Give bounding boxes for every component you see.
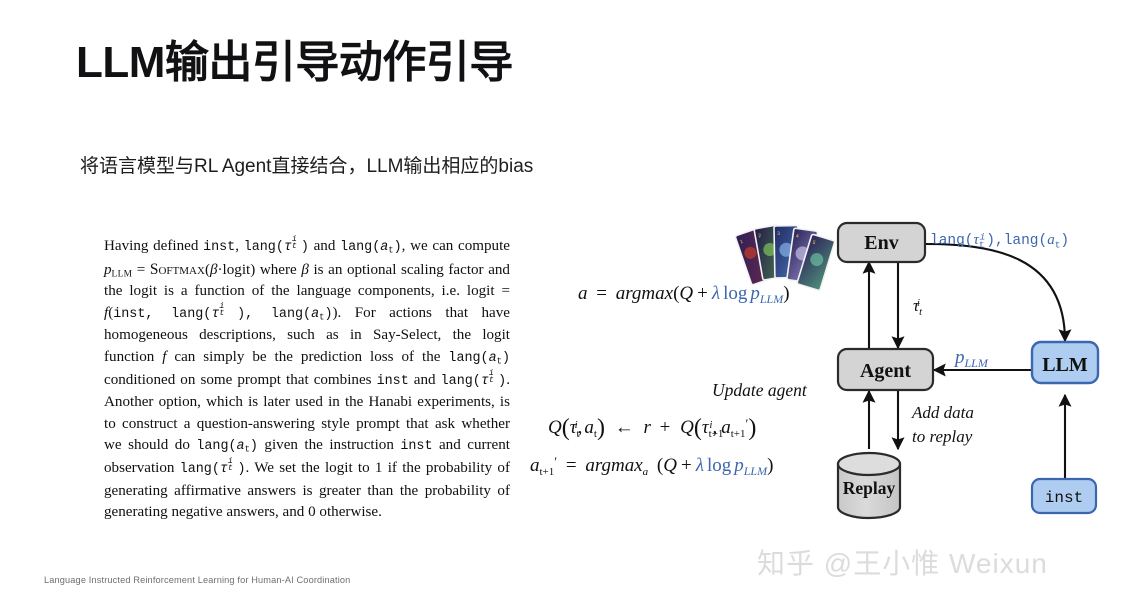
edge-label-replay-to-agent: Update agent <box>712 380 808 400</box>
svg-text:to replay: to replay <box>912 427 973 446</box>
equation-next-action: at+1′ = argmaxa (Q+λlogpLLM) <box>530 450 773 480</box>
equation-action-selection: a = argmax(Q+λlogpLLM) <box>578 283 790 306</box>
svg-text:lang(τti),lang(at): lang(τti),lang(at) <box>930 232 1069 251</box>
hanabi-cards-icon: 1 2 3 4 <box>735 225 835 291</box>
svg-text:LLM: LLM <box>1042 354 1088 376</box>
node-env: Env <box>838 223 925 262</box>
svg-text:inst: inst <box>1045 489 1083 507</box>
node-inst: inst <box>1032 479 1096 513</box>
node-llm: LLM <box>1032 342 1098 383</box>
footer-source-note: Language Instructed Reinforcement Learni… <box>44 575 350 585</box>
svg-text:Agent: Agent <box>860 360 911 382</box>
svg-text:τti: τti <box>913 296 923 318</box>
svg-text:Q(τti,at) ←: Q(τti,at) ← r + Q(τt+1i,at+1′) <box>548 415 756 441</box>
svg-text:pLLM: pLLM <box>953 347 989 370</box>
equation-q-update: Q(τti,at) ← r + Q(τt+1i,at+1′) <box>548 415 756 441</box>
svg-text:Update agent: Update agent <box>712 380 808 400</box>
svg-text:Add data: Add data <box>911 403 974 422</box>
edge-label-agent-to-replay: Add data to replay <box>911 403 974 446</box>
slide-root: LLM输出引导动作引导 将语言模型与RL Agent直接结合，LLM输出相应的b… <box>0 0 1127 607</box>
svg-text:3: 3 <box>777 231 780 237</box>
page-subtitle: 将语言模型与RL Agent直接结合，LLM输出相应的bias <box>80 151 533 178</box>
paper-excerpt-paragraph: Having defined inst, lang(τit ) and lang… <box>104 236 510 524</box>
svg-text:Replay: Replay <box>843 478 896 498</box>
page-title: LLM输出引导动作引导 <box>76 39 513 87</box>
node-replay: Replay <box>838 453 900 518</box>
edge-label-env-to-agent: τti <box>913 296 923 318</box>
svg-text:Env: Env <box>864 232 898 254</box>
edge-label-env-to-llm: lang(τti),lang(at) <box>930 232 1069 251</box>
svg-text:a = argmax: a = argmax(Q+λlogpLLM) <box>578 283 790 306</box>
zhihu-watermark: 知乎 @王小惟 Weixun <box>757 542 1048 582</box>
method-diagram: 1 2 3 4 <box>520 196 1120 526</box>
edge-label-llm-to-agent: pLLM <box>953 347 989 370</box>
node-agent: Agent <box>838 349 933 390</box>
svg-text:at+1′ = ar: at+1′ = argmaxa (Q+λlogpLLM) <box>530 450 773 480</box>
edge-env-to-llm <box>925 244 1065 341</box>
